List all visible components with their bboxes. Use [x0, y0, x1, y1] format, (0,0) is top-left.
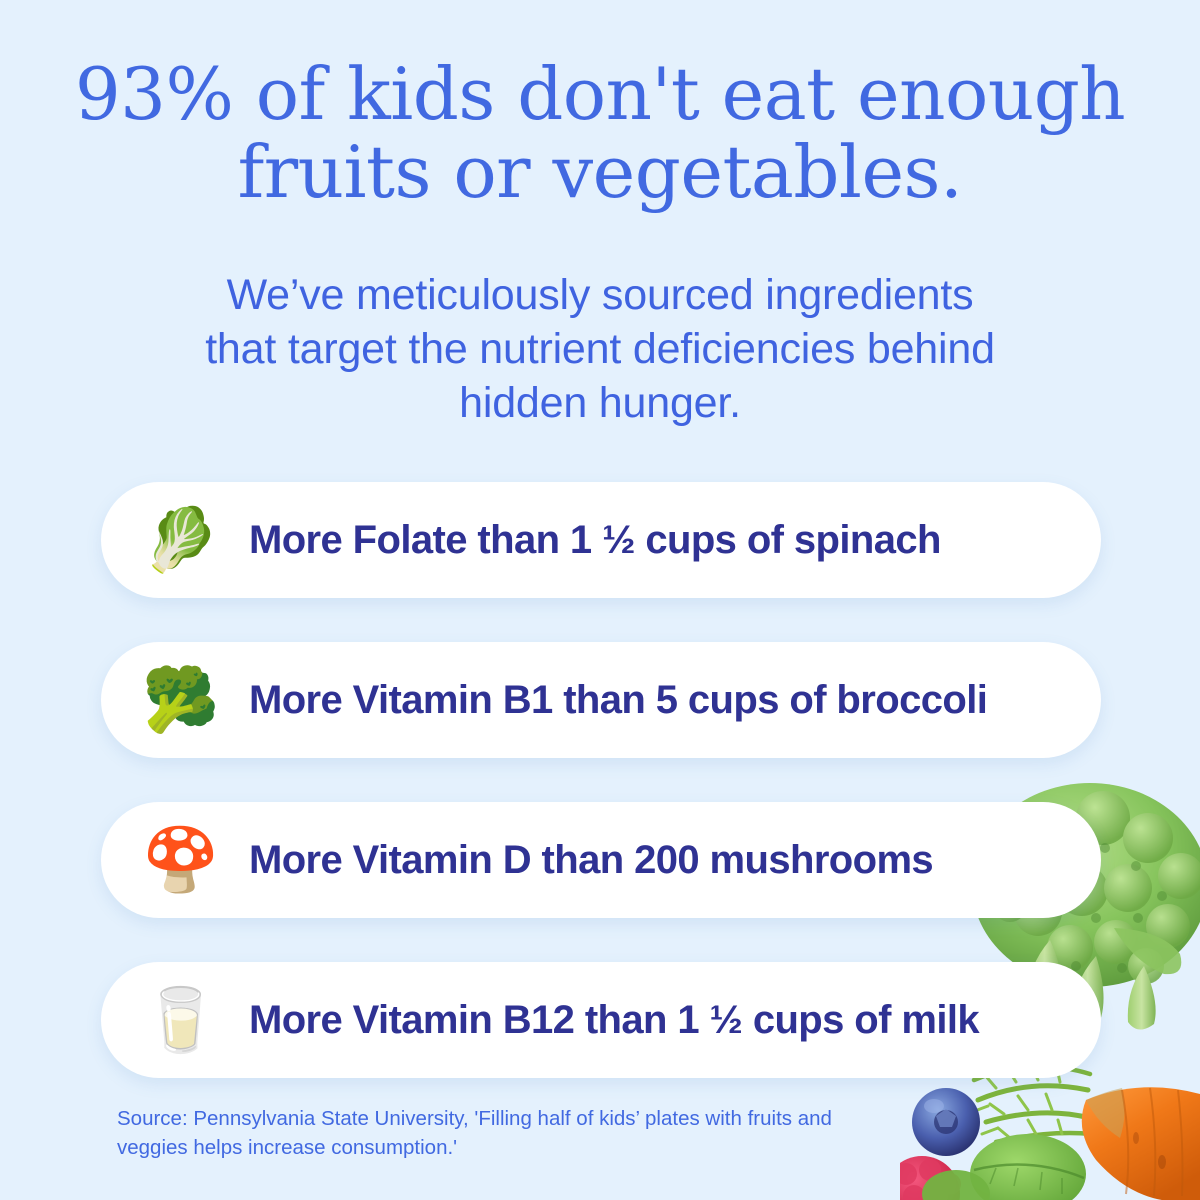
benefit-card: 🥦 More Vitamin B1 than 5 cups of broccol…: [101, 642, 1101, 758]
broccoli-icon: 🥦: [129, 648, 233, 752]
benefit-card: 🍄 More Vitamin D than 200 mushrooms: [101, 802, 1101, 918]
headline-line-1: 93% of kids don't eat enough: [75, 52, 1125, 136]
carrot-graphic: [1082, 1087, 1200, 1200]
subheading: We’ve meticulously sourced ingredients t…: [85, 268, 1115, 431]
benefit-card-label: More Vitamin B1 than 5 cups of broccoli: [233, 678, 987, 723]
benefit-card: 🥬 More Folate than 1 ½ cups of spinach: [101, 482, 1101, 598]
subheading-line-3: hidden hunger.: [459, 379, 741, 427]
benefit-card-label: More Vitamin D than 200 mushrooms: [233, 838, 933, 883]
raspberry-graphic: [900, 1156, 964, 1200]
page-title: 93% of kids don't eat enough fruits or v…: [50, 56, 1150, 212]
blueberry-graphic: [912, 1088, 980, 1156]
source-citation: Source: Pennsylvania State University, '…: [117, 1104, 907, 1162]
benefit-card-label: More Vitamin B12 than 1 ½ cups of milk: [233, 998, 979, 1043]
spinach-leaf-graphic: [922, 1134, 1086, 1200]
benefit-card-list: 🥬 More Folate than 1 ½ cups of spinach 🥦…: [101, 482, 1101, 1078]
mushroom-icon: 🍄: [129, 808, 233, 912]
leafy-green-icon: 🥬: [129, 488, 233, 592]
benefit-card-label: More Folate than 1 ½ cups of spinach: [233, 518, 941, 563]
subheading-line-1: We’ve meticulously sourced ingredients: [227, 271, 974, 319]
benefit-card: 🥛 More Vitamin B12 than 1 ½ cups of milk: [101, 962, 1101, 1078]
glass-of-milk-icon: 🥛: [129, 968, 233, 1072]
source-line-1: Source: Pennsylvania State University, '…: [117, 1107, 792, 1130]
headline-line-2: fruits or vegetables.: [238, 130, 963, 214]
poster-canvas: 93% of kids don't eat enough fruits or v…: [0, 0, 1200, 1200]
subheading-line-2: that target the nutrient deficiencies be…: [205, 325, 995, 373]
